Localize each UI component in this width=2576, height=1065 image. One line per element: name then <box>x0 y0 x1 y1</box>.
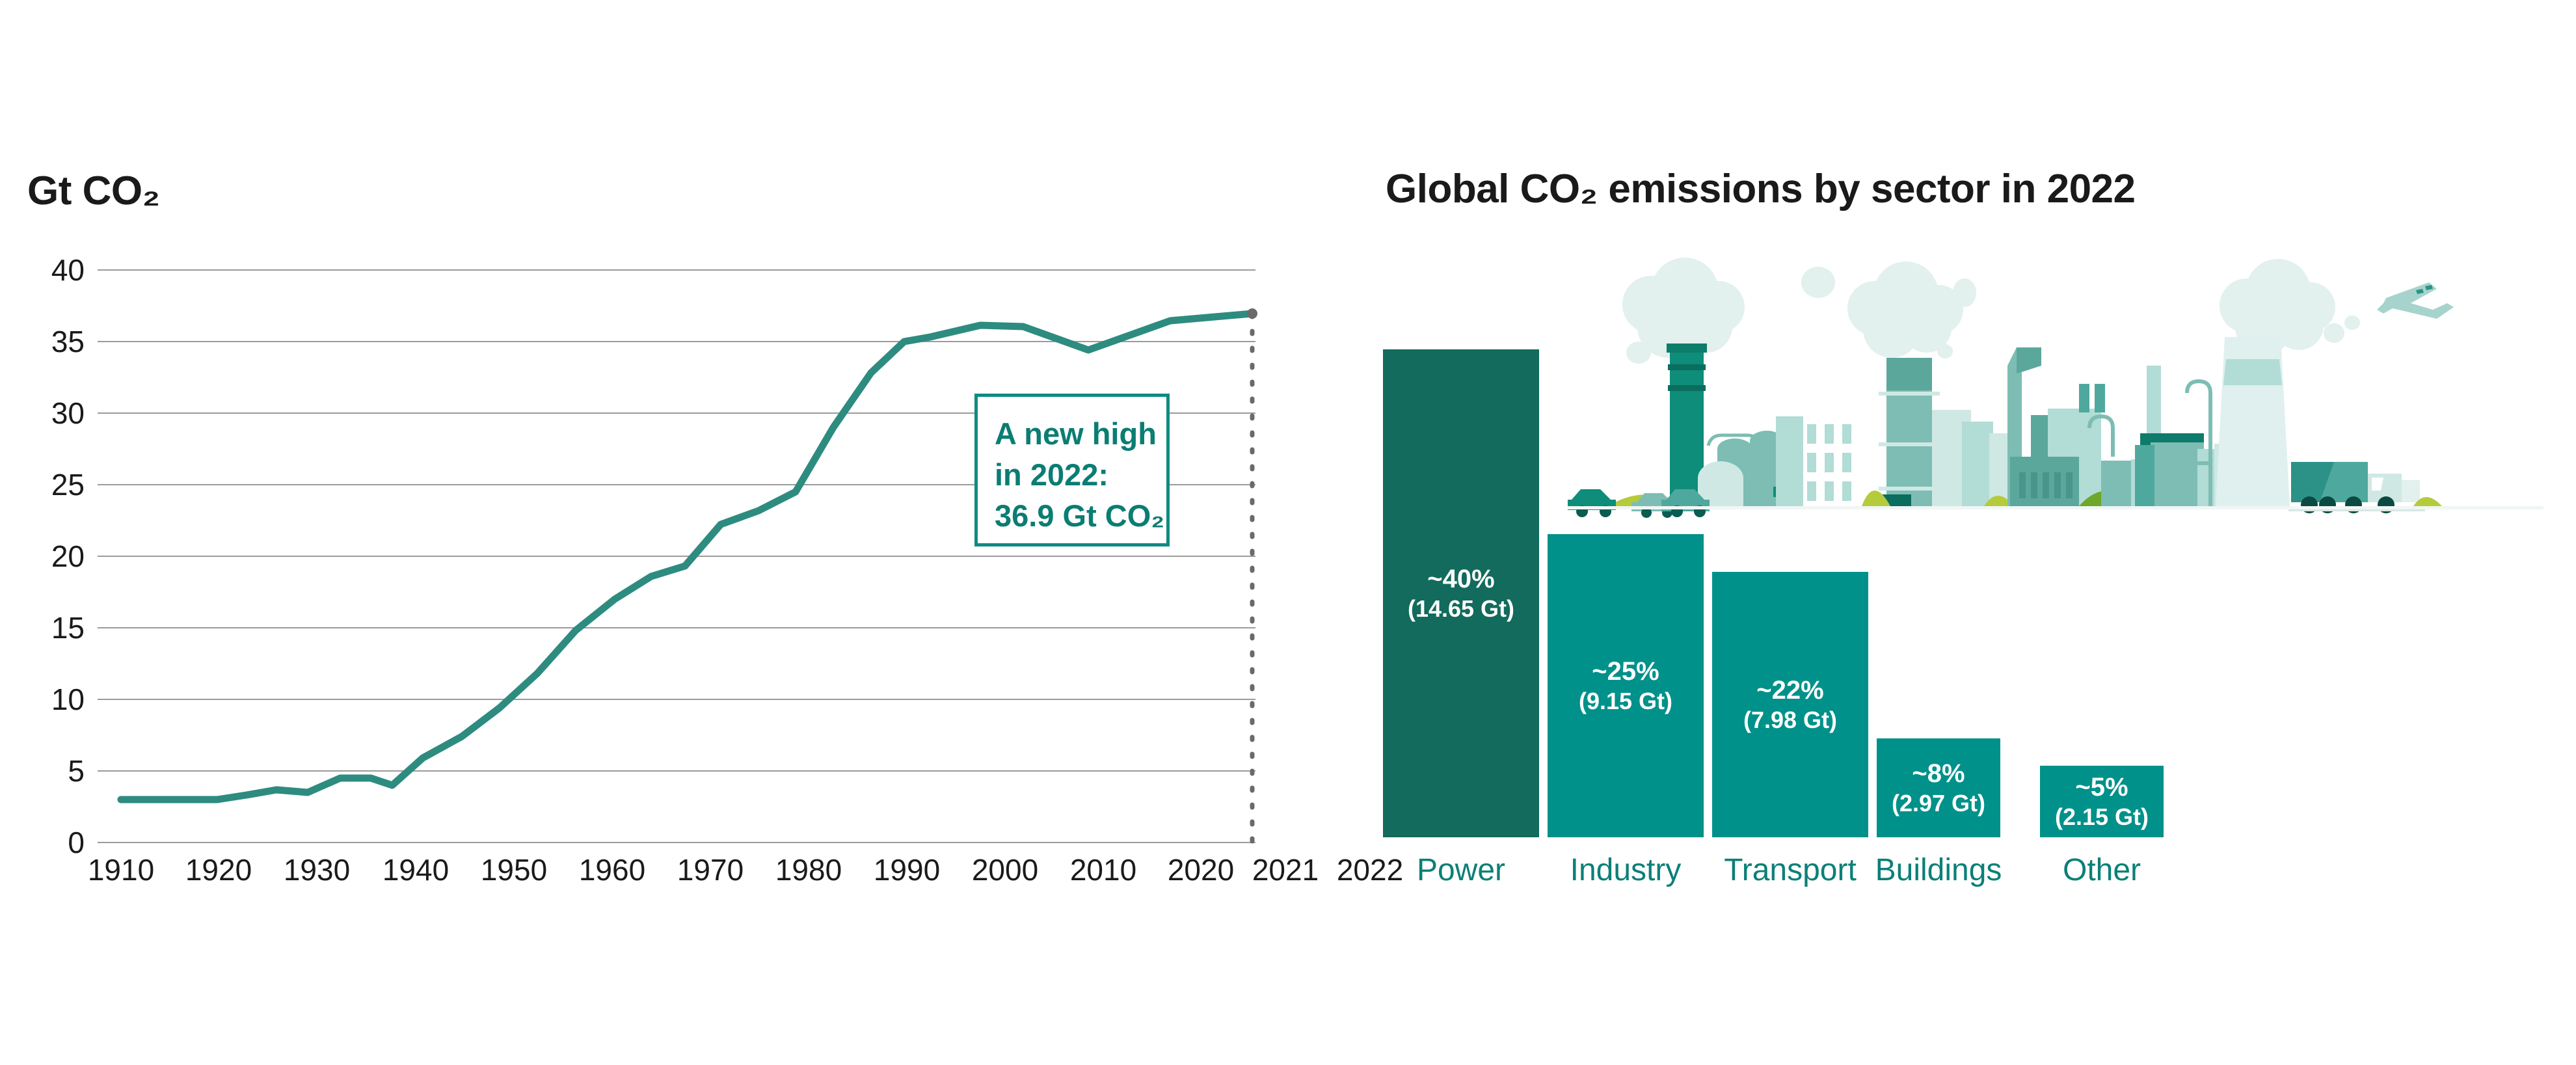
smoke-puff <box>2324 323 2344 343</box>
bar-other[interactable]: ~5% (2.15 Gt) <box>2040 766 2164 837</box>
bar-buildings[interactable]: ~8% (2.97 Gt) <box>1877 738 2000 837</box>
airplane-icon <box>2377 282 2454 319</box>
y-tick-30: 30 <box>13 396 85 431</box>
bar-industry-value: (9.15 Gt) <box>1579 687 1672 716</box>
car-1 <box>1568 489 1616 517</box>
bar-transport-percent: ~22% <box>1756 675 1823 707</box>
chimney <box>2095 384 2105 412</box>
bar-label-industry: Industry <box>1570 852 1682 888</box>
x-tick-1910: 1910 <box>88 852 154 887</box>
silo-tower <box>1872 358 1940 506</box>
bar-buildings-value: (2.97 Gt) <box>1892 789 1985 818</box>
data-point-2022 <box>1247 308 1257 319</box>
callout-box: A new high in 2022: 36.9 Gt CO₂ <box>974 394 1170 546</box>
bar-chart-panel: Global CO₂ emissions by sector in 2022 <box>1301 0 2576 1065</box>
ground-line <box>1568 506 2543 509</box>
gridlines <box>98 270 1255 843</box>
x-tick-2000: 2000 <box>972 852 1038 887</box>
bar-industry-percent: ~25% <box>1592 656 1659 688</box>
y-tick-20: 20 <box>13 539 85 574</box>
x-tick-1920: 1920 <box>185 852 252 887</box>
storage-tank-group <box>1698 431 1788 506</box>
bar-other-percent: ~5% <box>2075 772 2128 803</box>
bar-power[interactable]: ~40% (14.65 Gt) <box>1383 349 1539 837</box>
bar-label-other: Other <box>2063 852 2141 888</box>
x-tick-1980: 1980 <box>775 852 842 887</box>
x-tick-1930: 1930 <box>284 852 350 887</box>
x-tick-2010: 2010 <box>1070 852 1136 887</box>
y-tick-25: 25 <box>13 467 85 502</box>
office-building <box>1776 416 1803 506</box>
callout-line-1: A new high <box>995 414 1166 455</box>
x-tick-1960: 1960 <box>579 852 645 887</box>
bar-label-transport: Transport <box>1724 852 1857 888</box>
callout-line-3: 36.9 Gt CO₂ <box>995 496 1166 537</box>
line-chart-plot-area <box>98 270 1255 843</box>
callout-line-2: in 2022: <box>995 455 1166 496</box>
bar-power-value: (14.65 Gt) <box>1408 595 1514 623</box>
bar-other-value: (2.15 Gt) <box>2055 803 2149 831</box>
smoke-puff <box>1953 278 1976 307</box>
y-tick-15: 15 <box>13 610 85 645</box>
truck <box>2288 462 2425 513</box>
bar-buildings-percent: ~8% <box>1912 758 1965 790</box>
bar-power-percent: ~40% <box>1427 563 1494 595</box>
bar-transport[interactable]: ~22% (7.98 Gt) <box>1712 572 1868 837</box>
factory-block <box>2010 457 2079 506</box>
chimney <box>2079 384 2089 412</box>
bar-label-power: Power <box>1417 852 1505 888</box>
cooling-tower <box>2216 337 2290 506</box>
smoke-cloud-2 <box>1847 262 1963 358</box>
line-chart-title: Gt CO₂ <box>27 168 160 214</box>
y-tick-5: 5 <box>13 753 85 789</box>
x-tick-1990: 1990 <box>874 852 940 887</box>
y-tick-35: 35 <box>13 324 85 359</box>
bar-transport-value: (7.98 Gt) <box>1743 706 1837 735</box>
y-tick-0: 0 <box>13 825 85 860</box>
factory-roof <box>2135 433 2204 506</box>
smoke-puff <box>1801 267 1835 298</box>
building <box>1962 422 1993 506</box>
y-tick-10: 10 <box>13 682 85 717</box>
x-tick-1950: 1950 <box>481 852 547 887</box>
bar-chart-title: Global CO₂ emissions by sector in 2022 <box>1386 166 2136 212</box>
x-tick-1940: 1940 <box>382 852 449 887</box>
bar-industry[interactable]: ~25% (9.15 Gt) <box>1548 534 1704 837</box>
line-chart-panel: Gt CO₂ 40 35 30 25 20 15 10 5 0 <box>0 0 1301 1065</box>
x-tick-2020: 2020 <box>1168 852 1234 887</box>
bar-label-buildings: Buildings <box>1875 852 2002 888</box>
industrial-skyline-illustration <box>1568 254 2543 540</box>
smoke-puff <box>1626 342 1651 364</box>
office-building-windows <box>1807 424 1851 501</box>
x-tick-1970: 1970 <box>677 852 744 887</box>
smoke-puff <box>1937 344 1953 358</box>
smoke-puff <box>2344 316 2360 330</box>
y-tick-40: 40 <box>13 252 85 288</box>
